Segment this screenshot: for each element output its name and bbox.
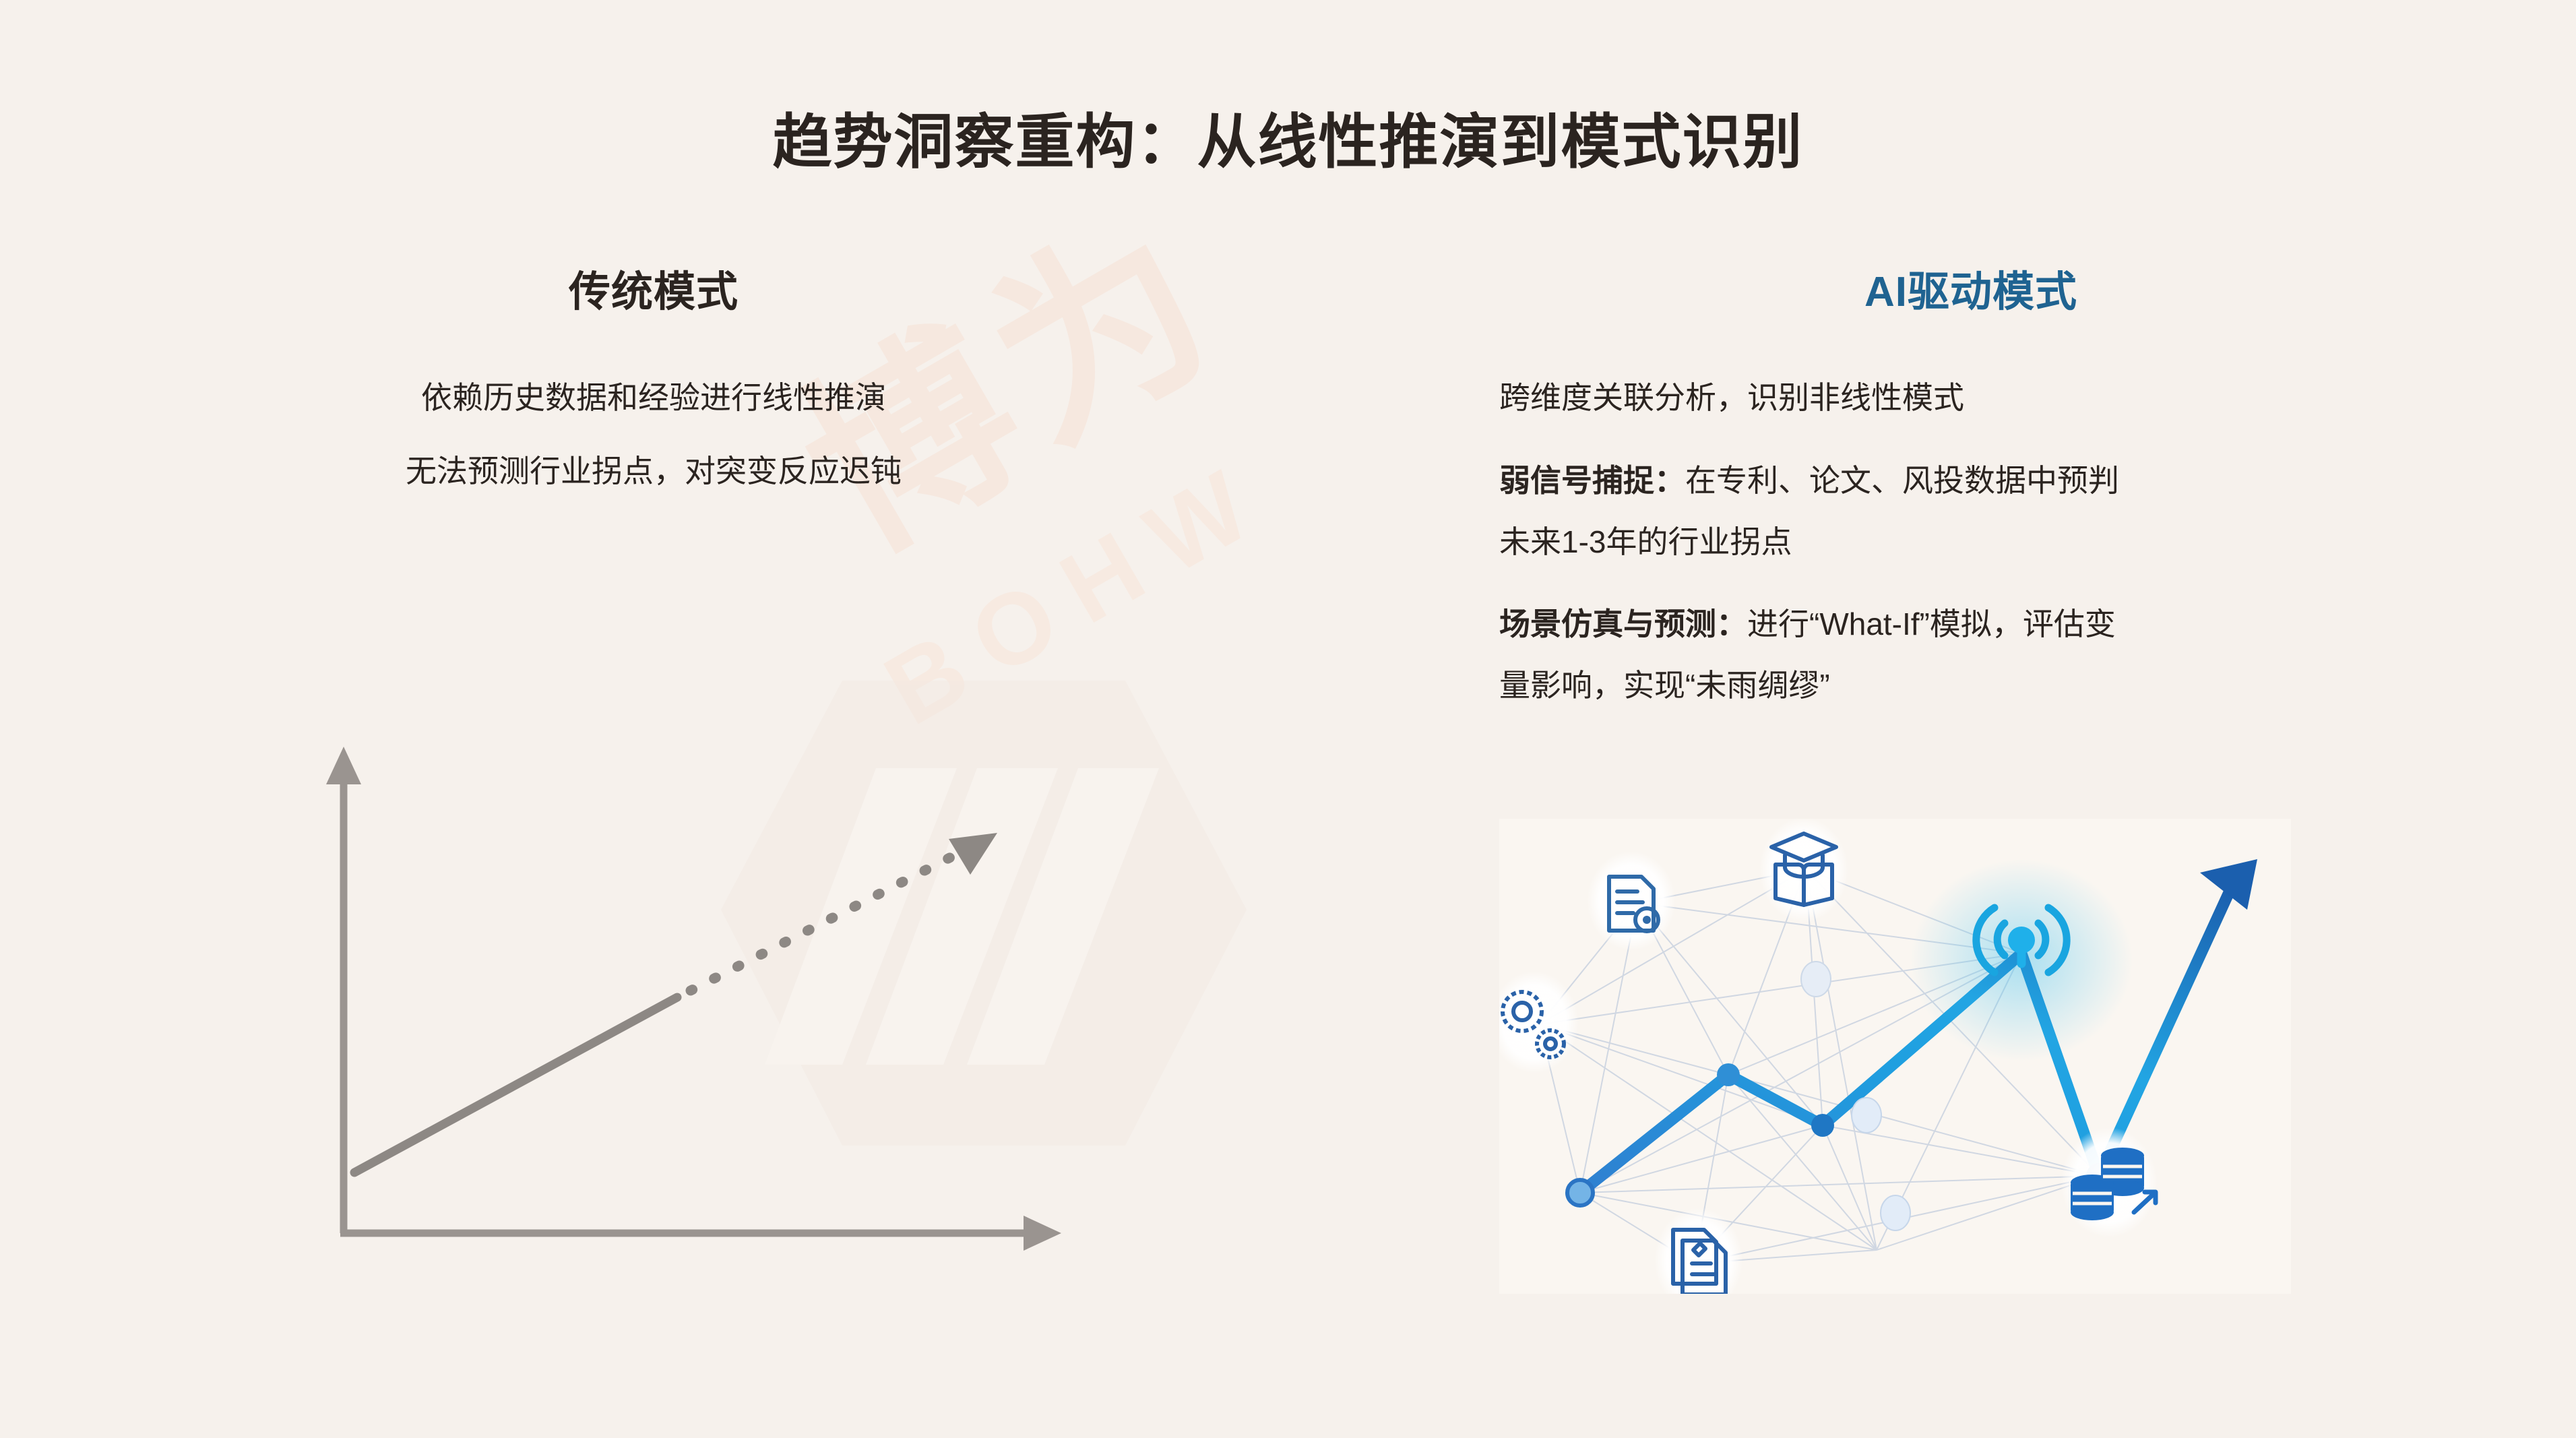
page-title: 趋势洞察重构：从线性推演到模式识别 xyxy=(0,94,2576,180)
left-column: 传统模式 依赖历史数据和经验进行线性推演 无法预测行业拐点，对突变反应迟钝 xyxy=(222,270,1085,524)
trend-node xyxy=(1567,1180,1593,1206)
right-column-heading: AI驱动模式 xyxy=(1499,270,2443,315)
right-line-4-label: 场景仿真与预测： xyxy=(1499,606,1747,642)
right-body-line-4: 场景仿真与预测：进行“What-If”模拟，评估变 xyxy=(1499,604,2443,645)
historical-trend-line xyxy=(354,997,677,1173)
right-body-line-1: 跨维度关联分析，识别非线性模式 xyxy=(1499,377,2443,418)
x-axis-arrow-icon xyxy=(1024,1216,1061,1251)
right-body-line-3: 未来1-3年的行业拐点 xyxy=(1499,522,2443,563)
left-column-heading: 传统模式 xyxy=(222,270,1085,315)
mesh-node xyxy=(1801,962,1831,997)
patent-document-icon xyxy=(1654,1208,1743,1294)
right-line-2-text: 在专利、论文、风投数据中预判 xyxy=(1685,463,2119,498)
extrapolation-dotted-line xyxy=(691,856,953,991)
right-line-1-text: 跨维度关联分析，识别非线性模式 xyxy=(1499,380,1964,415)
forecast-arrow-icon xyxy=(949,833,997,875)
document-gear-icon xyxy=(1587,851,1676,951)
ai-network-trend-illustration xyxy=(1499,819,2291,1294)
database-growth-icon xyxy=(2061,1127,2158,1238)
right-body-line-5: 量影响，实现“未雨绸缪” xyxy=(1499,665,2443,706)
right-column: AI驱动模式 跨维度关联分析，识别非线性模式 弱信号捕捉：在专利、论文、风投数据… xyxy=(1499,270,2443,739)
graduation-book-icon xyxy=(1759,819,1848,923)
dual-gears-icon xyxy=(1499,971,1579,1073)
trend-node xyxy=(1717,1063,1740,1086)
y-axis-arrow-icon xyxy=(326,747,361,784)
right-body-line-2: 弱信号捕捉：在专利、论文、风投数据中预判 xyxy=(1499,460,2443,501)
trend-node xyxy=(1811,1114,1834,1137)
left-body-line-1: 依赖历史数据和经验进行线性推演 xyxy=(222,377,1085,418)
left-body-line-2: 无法预测行业拐点，对突变反应迟钝 xyxy=(222,451,1085,492)
mesh-node xyxy=(1881,1195,1910,1230)
right-line-5-text: 量影响，实现“未雨绸缪” xyxy=(1499,668,1830,703)
linear-trend-chart xyxy=(296,701,1092,1307)
right-line-2-label: 弱信号捕捉： xyxy=(1499,463,1685,498)
right-line-3-text: 未来1-3年的行业拐点 xyxy=(1499,524,1792,559)
right-line-4-text: 进行“What-If”模拟，评估变 xyxy=(1747,606,2116,642)
slide-canvas: 博为 BOHW 趋势洞察重构：从线性推演到模式识别 传统模式 依赖历史数据和经验… xyxy=(0,0,2576,1438)
mesh-node xyxy=(1852,1098,1881,1133)
